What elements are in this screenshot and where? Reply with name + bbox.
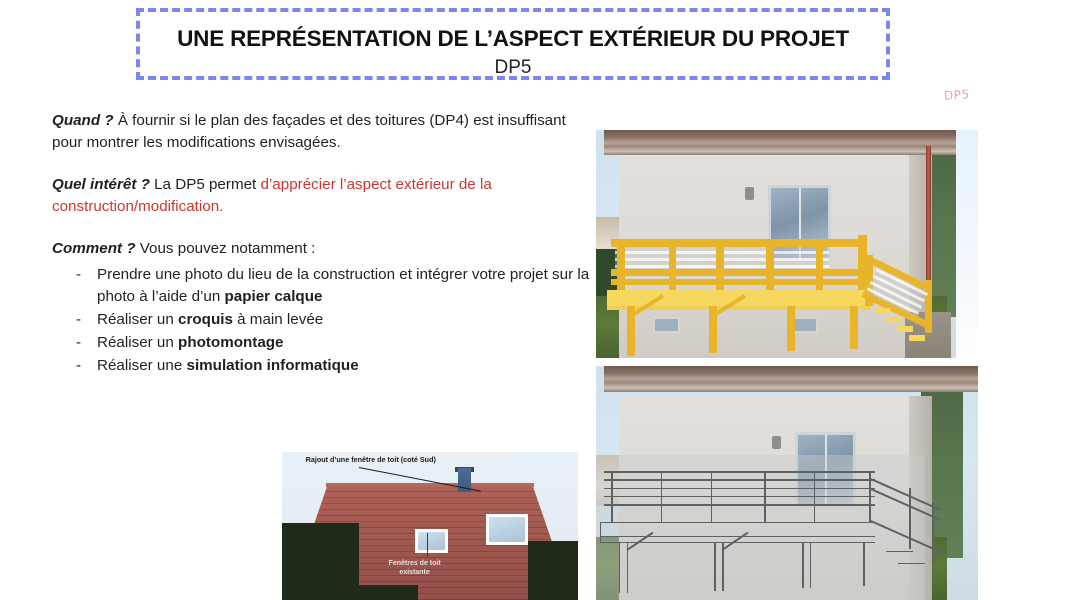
list-item-bold: croquis	[178, 311, 233, 328]
support-leg-line	[714, 542, 716, 591]
body-text-column: Quand ? À fournir si le plan des façades…	[52, 110, 592, 378]
tree-right	[528, 541, 578, 600]
railing-post-line	[814, 471, 816, 522]
list-item-text: Réaliser un	[97, 334, 178, 351]
stair-step	[898, 326, 913, 331]
roof-annotation-existing-line1: Fenêtres de toit	[389, 560, 441, 567]
list-item: -Réaliser une simulation informatique	[52, 355, 592, 377]
roof-gutter	[604, 382, 978, 391]
skylight-existing-left	[415, 529, 448, 553]
railing-post-line	[711, 471, 713, 522]
deck-top-rail	[611, 239, 867, 246]
railing-post-line	[764, 471, 766, 522]
deck-post	[617, 239, 625, 294]
skylight-existing-right	[486, 514, 527, 545]
page-subtitle: DP5	[140, 58, 886, 79]
stair-step-line	[886, 551, 913, 553]
roof-ridge	[326, 483, 533, 487]
text-comment: Vous pouvez notamment :	[136, 240, 316, 257]
stair-post-line	[909, 488, 911, 549]
paragraph-comment: Comment ? Vous pouvez notamment :	[52, 238, 592, 260]
spacer-2	[52, 221, 592, 238]
text-interet-black: La DP5 permet	[150, 176, 261, 193]
railing-post-line	[611, 471, 613, 522]
roof-annotation-top: Rajout d’une fenêtre de toit (coté Sud)	[306, 455, 436, 464]
deck-post	[669, 239, 677, 294]
railing-post-line	[661, 471, 663, 522]
deck-mid-rail	[611, 269, 867, 276]
list-item-text: Réaliser une	[97, 357, 187, 374]
deck-slab-line	[600, 522, 875, 524]
list-item-text: Prendre une photo du lieu de la construc…	[97, 266, 589, 305]
railing-line	[604, 504, 875, 506]
label-interet: Quel intérêt ?	[52, 176, 150, 193]
label-comment: Comment ?	[52, 240, 136, 257]
tree-left	[282, 523, 359, 600]
list-item-bold: simulation informatique	[187, 357, 359, 374]
figure-photomontage	[596, 130, 978, 358]
title-box: UNE REPRÉSENTATION DE L’ASPECT EXTÉRIEUR…	[136, 8, 890, 80]
handwritten-dp5-mark: DP5	[944, 87, 971, 103]
list-item: -Réaliser un photomontage	[52, 332, 592, 354]
text-quand: À fournir si le plan des façades et des …	[52, 112, 566, 151]
shrub	[359, 585, 418, 600]
railing-line	[604, 471, 875, 473]
stair-step-line	[898, 563, 925, 565]
stair-step	[875, 308, 890, 313]
list-item-text: Réaliser un	[97, 311, 178, 328]
stair-post-line	[932, 502, 934, 563]
deck-support-leg	[850, 306, 858, 349]
stair-post	[925, 280, 933, 332]
list-item-bold: photomontage	[178, 334, 283, 351]
wall-lamp	[772, 436, 781, 449]
railing-line	[604, 496, 875, 498]
list-bullet: -	[76, 355, 81, 377]
comment-list: -Prendre une photo du lieu de la constru…	[52, 264, 592, 377]
figure-papier-calque	[596, 366, 978, 600]
figure-roof-photo: Rajout d’une fenêtre de toit (coté Sud) …	[282, 452, 578, 600]
deck-lower-rail	[611, 279, 867, 285]
tracing-paper-wash	[596, 455, 925, 600]
photo-right-margin	[956, 130, 978, 358]
deck-post	[716, 239, 724, 294]
paragraph-quand: Quand ? À fournir si le plan des façades…	[52, 110, 592, 153]
page-title: UNE REPRÉSENTATION DE L’ASPECT EXTÉRIEUR…	[140, 27, 886, 52]
deck-slab-line	[600, 542, 875, 544]
railing-line	[604, 479, 875, 481]
paragraph-interet: Quel intérêt ? La DP5 permet d’apprécier…	[52, 174, 592, 217]
support-leg-line	[619, 542, 621, 593]
deck-post	[816, 239, 824, 294]
list-bullet: -	[76, 309, 81, 331]
roof-annotation-existing: Fenêtres de toit existante	[389, 559, 441, 578]
stair-step	[909, 335, 924, 340]
deck-overlay-yellow	[596, 130, 978, 358]
list-item-post: à main levée	[233, 311, 323, 328]
support-leg-line	[810, 542, 812, 589]
list-item-bold: papier calque	[225, 288, 323, 305]
list-bullet: -	[76, 332, 81, 354]
railing-line	[604, 488, 875, 490]
annotation-leader-line-2	[427, 533, 428, 557]
deck-post	[766, 239, 774, 294]
deck-support-leg	[787, 306, 795, 352]
support-leg-line	[863, 542, 865, 586]
deck-slab-edge	[600, 522, 602, 543]
list-bullet: -	[76, 264, 81, 286]
spacer-1	[52, 157, 592, 174]
support-leg-line	[802, 542, 804, 589]
roof-annotation-existing-line2: existante	[399, 569, 429, 576]
list-item: -Prendre une photo du lieu de la constru…	[52, 264, 592, 308]
label-quand: Quand ?	[52, 112, 114, 129]
list-item: -Réaliser un croquis à main levée	[52, 309, 592, 331]
stair-step	[886, 317, 901, 322]
